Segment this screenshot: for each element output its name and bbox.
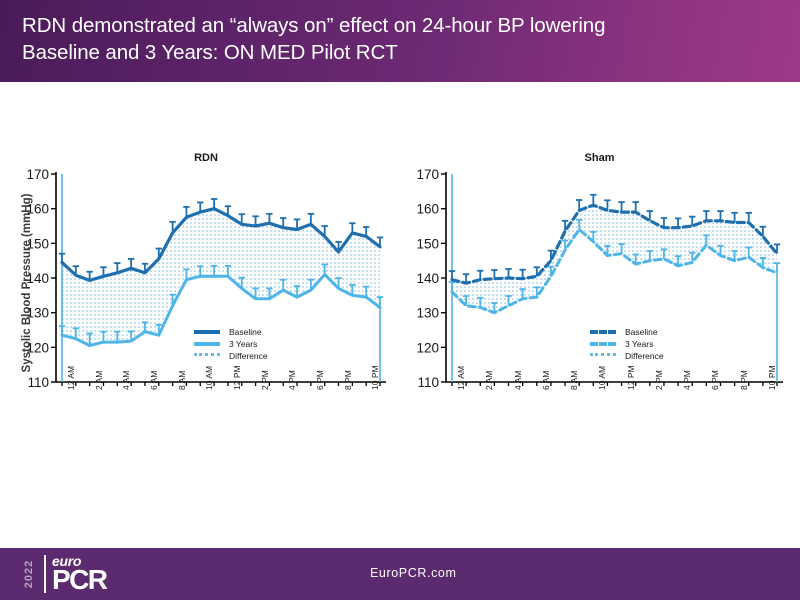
page-title-line-2: Baseline and 3 Years: ON MED Pilot RCT (22, 39, 780, 66)
legend-item-3-years: 3 Years (194, 338, 268, 350)
x-tick-label: 10 AM (597, 366, 607, 390)
legend-swatch-baseline-icon (590, 330, 616, 334)
svg-text:110: 110 (417, 375, 439, 390)
x-tick-label: 12 AM (456, 366, 466, 390)
x-tick-label: 10 PM (370, 365, 380, 390)
x-tick-label: 6 PM (710, 370, 720, 390)
svg-text:170: 170 (416, 167, 439, 182)
chart-title-sham: Sham (412, 152, 787, 164)
legend-swatch-difference-icon (590, 353, 616, 359)
chart-panel-sham: Sham 110120130140150160170 Baseline 3 Ye… (412, 152, 787, 412)
logo-divider (44, 555, 46, 593)
x-tick-label: 12 PM (626, 365, 636, 390)
x-tick-label: 2 PM (654, 370, 664, 390)
x-tick-label: 2 PM (260, 370, 270, 390)
svg-text:140: 140 (416, 271, 439, 286)
legend-label-3-years: 3 Years (625, 339, 653, 349)
x-tick-label: 2 AM (94, 371, 104, 390)
svg-text:150: 150 (26, 236, 49, 251)
title-block: RDN demonstrated an “always on” effect o… (22, 12, 780, 66)
logo-year-label: 2022 (23, 553, 35, 595)
legend-label-3-years: 3 Years (229, 339, 257, 349)
chart-panel-rdn: RDN 110120130140150160170 Baseline 3 Yea… (22, 152, 390, 412)
x-tick-label: 4 PM (682, 370, 692, 390)
x-tick-label: 8 AM (177, 371, 187, 390)
legend-label-difference: Difference (625, 351, 664, 361)
x-tick-label: 4 AM (121, 371, 131, 390)
logo-pcr-label: PCR (52, 566, 106, 594)
slide: RDN demonstrated an “always on” effect o… (0, 0, 800, 600)
x-tick-label: 6 AM (149, 371, 159, 390)
page-title-line-1: RDN demonstrated an “always on” effect o… (22, 12, 780, 39)
legend-swatch-difference-icon (194, 353, 220, 359)
x-tick-label: 6 PM (315, 370, 325, 390)
svg-text:120: 120 (416, 340, 439, 355)
slide-footer: 2022 euro PCR EuroPCR.com EAPCI European… (0, 548, 800, 600)
x-tick-label: 8 PM (739, 370, 749, 390)
legend-item-baseline: Baseline (194, 326, 268, 338)
svg-text:160: 160 (26, 202, 49, 217)
legend-swatch-3-years-icon (194, 342, 220, 346)
svg-text:110: 110 (27, 375, 49, 390)
x-tick-label: 12 PM (232, 365, 242, 390)
chart-title-rdn: RDN (22, 152, 390, 164)
chart-legend-sham: Baseline 3 Years Difference (590, 326, 664, 362)
legend-item-baseline: Baseline (590, 326, 664, 338)
svg-text:120: 120 (26, 340, 49, 355)
legend-label-difference: Difference (229, 351, 268, 361)
legend-label-baseline: Baseline (229, 327, 262, 337)
svg-text:150: 150 (416, 236, 439, 251)
logo-wordmark: euro PCR (52, 554, 106, 594)
legend-item-difference: Difference (590, 350, 664, 362)
x-tick-label: 12 AM (66, 366, 76, 390)
legend-swatch-baseline-icon (194, 330, 220, 334)
x-tick-label: 10 AM (204, 366, 214, 390)
svg-text:170: 170 (26, 167, 49, 182)
x-tick-label: 8 PM (343, 370, 353, 390)
svg-text:130: 130 (416, 306, 439, 321)
svg-text:130: 130 (26, 306, 49, 321)
slide-header: RDN demonstrated an “always on” effect o… (0, 0, 800, 82)
legend-label-baseline: Baseline (625, 327, 658, 337)
x-tick-label: 10 PM (767, 365, 777, 390)
legend-item-3-years: 3 Years (590, 338, 664, 350)
x-tick-label: 8 AM (569, 371, 579, 390)
slide-body: Systolic Blood Pressure (mmHg) RDN 11012… (0, 82, 800, 548)
x-tick-label: 2 AM (484, 371, 494, 390)
x-tick-label: 4 AM (513, 371, 523, 390)
footer-url-label[interactable]: EuroPCR.com (370, 566, 456, 580)
svg-text:140: 140 (26, 271, 49, 286)
legend-swatch-3-years-icon (590, 342, 616, 346)
x-tick-label: 6 AM (541, 371, 551, 390)
svg-text:160: 160 (416, 202, 439, 217)
x-tick-label: 4 PM (287, 370, 297, 390)
europcr-logo: 2022 euro PCR (8, 552, 106, 596)
legend-item-difference: Difference (194, 350, 268, 362)
chart-legend-rdn: Baseline 3 Years Difference (194, 326, 268, 362)
